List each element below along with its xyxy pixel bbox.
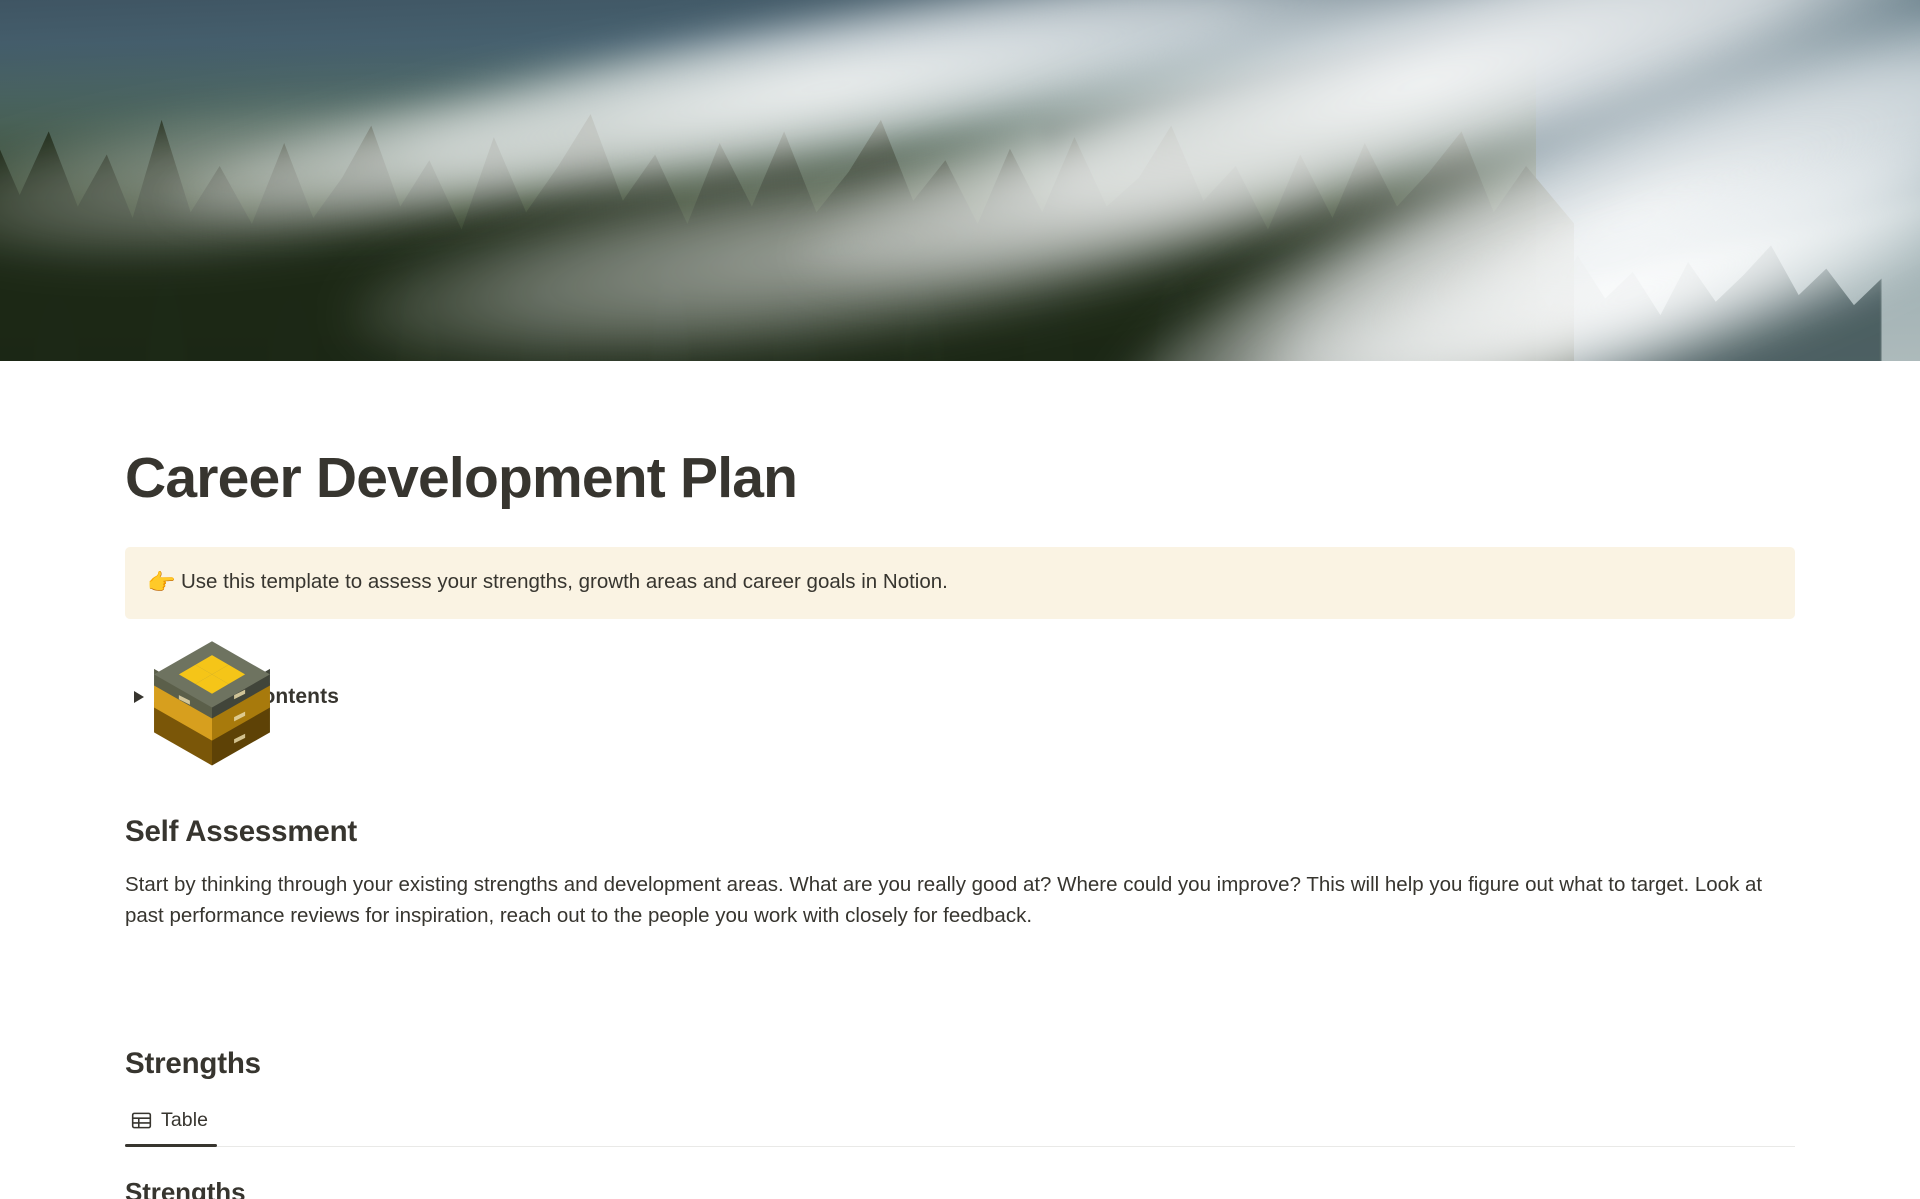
pointing-right-hand-icon: 👉: [147, 571, 181, 594]
tabs-divider: [125, 1146, 1795, 1147]
callout-text: Use this template to assess your strengt…: [181, 567, 948, 598]
callout-block[interactable]: 👉 Use this template to assess your stren…: [125, 547, 1795, 619]
card-box-icon[interactable]: [143, 633, 281, 771]
page-body: Career Development Plan 👉 Use this templ…: [0, 361, 1920, 1199]
table-grid-icon: [131, 1110, 152, 1131]
heading-strengths[interactable]: Strengths: [125, 1047, 1795, 1081]
heading-self-assessment[interactable]: Self Assessment: [125, 815, 1795, 849]
toggle-block-table-of-contents[interactable]: Table Of Contents: [125, 685, 1795, 709]
page-title[interactable]: Career Development Plan: [125, 361, 1795, 511]
tab-table[interactable]: Table: [125, 1101, 214, 1139]
page-cover-image[interactable]: [0, 0, 1920, 361]
tab-active-indicator: [125, 1144, 217, 1147]
paragraph-self-assessment[interactable]: Start by thinking through your existing …: [125, 869, 1797, 931]
database-title[interactable]: Strengths: [125, 1177, 1795, 1199]
page-content: Career Development Plan 👉 Use this templ…: [125, 361, 1795, 1199]
database-view-tabs: Table: [125, 1101, 1795, 1147]
tab-table-label[interactable]: Table: [161, 1109, 208, 1132]
